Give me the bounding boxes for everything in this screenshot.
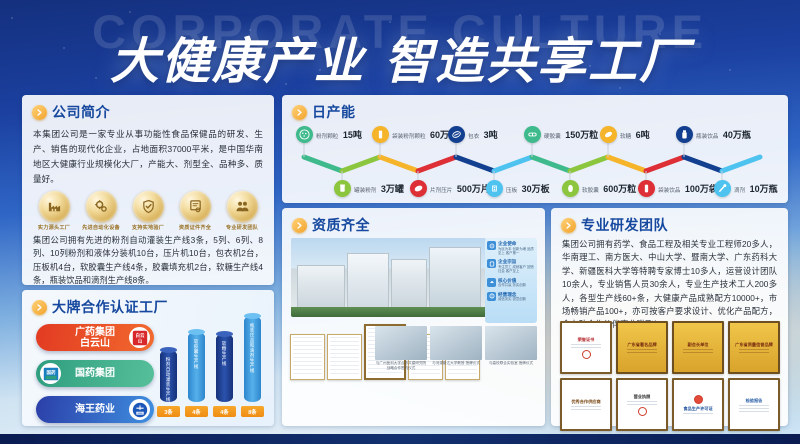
tablet-icon bbox=[410, 180, 427, 197]
culture-sub: 专注员工 成就客户 回馈社会 客户至上 bbox=[498, 265, 535, 274]
certificate-label: 广东省质量信誉品牌 bbox=[735, 342, 773, 347]
badge-label: 支持实地验厂 bbox=[126, 224, 170, 231]
list-item[interactable]: 与广州医科大学合作共建研究院 战略合作签约仪式 bbox=[375, 326, 427, 370]
certificate-item[interactable]: 营业执照 bbox=[616, 378, 668, 431]
brand-line-1: 海王药业 bbox=[75, 404, 115, 415]
strength-badge-list: 实力源头工厂 先进自动化设备 支持实地验厂 资质证件齐全 bbox=[22, 187, 274, 231]
team-photo-caption: 与高校联合实验室 授牌仪式 bbox=[485, 361, 537, 366]
production-line-bar-chart: 粉剂自动灌装生产线 3条 软胶囊生产线 4条 软糖生产线 4条 瓶装饮品和滴剂生… bbox=[156, 320, 266, 418]
chevron-right-circle-icon bbox=[292, 105, 307, 120]
certificate-grid: 荣誉证书 广东省著名品牌 副会长单位 广东省质量信誉品牌 优秀合作供应商 营业执… bbox=[560, 321, 780, 431]
bottle-icon bbox=[676, 126, 693, 143]
bar-label: 软胶囊生产线 bbox=[188, 339, 205, 369]
capacity-node-软糖: 软糖 6吨 bbox=[600, 125, 650, 143]
capacity-node-name: 硬胶囊 bbox=[544, 134, 561, 140]
list-item: 核心价值 合作共赢 务实创新 bbox=[487, 278, 535, 288]
brand-pill-neptunus[interactable]: 海王药业 bbox=[36, 396, 154, 423]
certificate-item[interactable]: 优秀合作供应商 bbox=[560, 378, 612, 431]
capacity-node-value: 150万粒 bbox=[565, 130, 598, 140]
capacity-node-name: 罐装粉剂 bbox=[354, 188, 376, 194]
certificate-item[interactable]: 检验报告 bbox=[728, 378, 780, 431]
rd-team-title: 专业研发团队 bbox=[581, 215, 668, 235]
bar-label: 粉剂自动灌装生产线 bbox=[160, 357, 177, 402]
capacity-node-value: 15吨 bbox=[343, 130, 362, 140]
badge-label: 先进自动化设备 bbox=[79, 224, 123, 231]
poster-canvas: CORPORATE CULTURE 大健康产业 智造共享工厂 公司简介 本集团公… bbox=[0, 0, 800, 444]
culture-sub: 诚信务实 锐意创新 bbox=[498, 297, 526, 301]
list-item[interactable]: 与河源斯达大学教授 授牌仪式 bbox=[430, 326, 482, 370]
brand-seal-icon: 白云山 bbox=[129, 327, 150, 348]
capacity-node-name: 包衣 bbox=[468, 134, 479, 140]
capacity-node-name: 粉剂颗粒 bbox=[316, 134, 338, 140]
capacity-node-value: 6吨 bbox=[636, 130, 650, 140]
list-item: 企业宗旨 专注员工 成就客户 回馈社会 客户至上 bbox=[487, 259, 535, 273]
sachet-icon bbox=[372, 126, 389, 143]
certificate-label: 广东省著名品牌 bbox=[627, 342, 656, 347]
mission-icon bbox=[487, 241, 496, 250]
team-photo-row: 与广州医科大学合作共建研究院 战略合作签约仪式 与河源斯达大学教授 授牌仪式 与… bbox=[375, 326, 537, 370]
list-item[interactable]: 与高校联合实验室 授牌仪式 bbox=[485, 326, 537, 370]
equipment-paragraph: 集团公司拥有先进的粉剂自动灌装生产线3条，5列、6列、8列、10列粉剂和液体分装… bbox=[22, 231, 274, 288]
brand-cooperation-header: 大牌合作认证工厂 bbox=[22, 290, 274, 317]
canister-icon bbox=[334, 180, 351, 197]
bar-item: 软胶囊生产线 4条 bbox=[188, 332, 205, 402]
capacity-node-瓶装饮品: 瓶装饮品 40万瓶 bbox=[676, 125, 751, 143]
chevron-right-circle-icon bbox=[32, 300, 47, 315]
capacity-node-罐装粉剂: 罐装粉剂 3万罐 bbox=[334, 179, 404, 197]
team-photo bbox=[375, 326, 427, 360]
capacity-node-value: 3万罐 bbox=[381, 184, 404, 194]
capacity-node-name: 软胶囊 bbox=[582, 188, 599, 194]
capacity-zigzag-chart: 粉剂颗粒 15吨 袋装粉剂颗粒 60万袋 包衣 3吨 bbox=[282, 123, 788, 203]
purpose-icon bbox=[487, 259, 496, 268]
badge-label: 专业研发团队 bbox=[220, 224, 264, 231]
capacity-node-粉剂颗粒: 粉剂颗粒 15吨 bbox=[296, 125, 362, 143]
brand-seal-icon: 国药 bbox=[40, 363, 61, 384]
certificate-label: 检验报告 bbox=[746, 398, 763, 403]
list-item: 资质证件齐全 bbox=[173, 191, 217, 231]
company-intro-paragraph: 本集团公司是一家专业从事功能性食品保健品的研发、生产、销售的现代化企业，占地面积… bbox=[22, 122, 274, 187]
gears-icon bbox=[86, 191, 117, 222]
bar-item: 瓶装饮品和滴剂生产线 8条 bbox=[244, 316, 261, 402]
factory-icon bbox=[39, 191, 70, 222]
list-item: 实力源头工厂 bbox=[32, 191, 76, 231]
footer-bar bbox=[0, 434, 800, 444]
capacity-title: 日产能 bbox=[312, 102, 356, 122]
certificate-label: 食品生产许可证 bbox=[683, 406, 712, 411]
capacity-node-value: 40万瓶 bbox=[723, 130, 751, 140]
chevron-right-circle-icon bbox=[292, 218, 307, 233]
list-item: 经营理念 诚信务实 锐意创新 bbox=[487, 292, 535, 302]
powder-icon bbox=[296, 126, 313, 143]
bar-item: 软糖生产线 4条 bbox=[216, 334, 233, 402]
certificate-thumb[interactable] bbox=[290, 334, 325, 380]
certificate-label: 营业执照 bbox=[634, 394, 651, 399]
certificate-item[interactable]: 副会长单位 bbox=[672, 321, 724, 374]
bar-value-label: 4条 bbox=[185, 406, 208, 417]
capacity-node-压板: 压板 30万板 bbox=[486, 179, 550, 197]
blister-icon bbox=[486, 180, 503, 197]
list-item: 企业使命 为民为本 创新为魂 品质至上 客户第一 bbox=[487, 241, 535, 255]
team-photo bbox=[485, 326, 537, 360]
brand-line-1: 国药集团 bbox=[75, 368, 115, 379]
rd-team-header: 专业研发团队 bbox=[551, 208, 788, 235]
brand-line-1: 广药集团 bbox=[75, 327, 115, 338]
capacity-node-value: 30万板 bbox=[522, 184, 550, 194]
qualification-panel: 资质齐全 集团公司旗下有广州工厂——广东长程医药科技有限公司、河源工厂—本元大健… bbox=[282, 208, 545, 426]
capacity-node-name: 滴剂 bbox=[734, 188, 745, 194]
capacity-node-袋装饮品: 袋装饮品 100万袋 bbox=[638, 179, 718, 197]
certificate-label: 副会长单位 bbox=[688, 342, 709, 347]
team-photo-caption: 与河源斯达大学教授 授牌仪式 bbox=[430, 361, 482, 366]
team-icon bbox=[227, 191, 258, 222]
certificate-thumb[interactable] bbox=[327, 334, 362, 380]
capacity-node-value: 100万袋 bbox=[685, 184, 718, 194]
capacity-node-name: 袋装粉剂颗粒 bbox=[392, 134, 426, 140]
chevron-right-circle-icon bbox=[561, 218, 576, 233]
rd-team-paragraph: 集团公司拥有药学、食品工程及相关专业工程师20多人，华南理工、南方医大、中山大学… bbox=[551, 235, 788, 332]
capacity-node-软胶囊: 软胶囊 600万粒 bbox=[562, 179, 636, 197]
company-intro-header: 公司简介 bbox=[22, 95, 274, 122]
capacity-node-value: 10万瓶 bbox=[750, 184, 778, 194]
chevron-right-circle-icon bbox=[32, 105, 47, 120]
capacity-node-name: 瓶装饮品 bbox=[696, 134, 718, 140]
brand-line-2: 白云山 bbox=[75, 338, 115, 349]
brand-pill-sinopharm[interactable]: 国药集团 国药 bbox=[36, 360, 154, 387]
capacity-node-name: 袋装饮品 bbox=[658, 188, 680, 194]
capacity-node-name: 片剂压片 bbox=[430, 188, 452, 194]
company-intro-title: 公司简介 bbox=[52, 102, 110, 122]
certificate-label: 荣誉证书 bbox=[578, 337, 595, 342]
capacity-node-包衣: 包衣 3吨 bbox=[448, 125, 498, 143]
rd-team-panel: 专业研发团队 集团公司拥有药学、食品工程及相关专业工程师20多人，华南理工、南方… bbox=[551, 208, 788, 426]
capacity-node-name: 压板 bbox=[506, 188, 517, 194]
certificate-item[interactable]: 荣誉证书 bbox=[560, 321, 612, 374]
dropper-icon bbox=[714, 180, 731, 197]
certificate-label: 优秀合作供应商 bbox=[571, 399, 600, 404]
hard-capsule-icon bbox=[524, 126, 541, 143]
list-item: 专业研发团队 bbox=[220, 191, 264, 231]
gummy-icon bbox=[600, 126, 617, 143]
team-photo bbox=[430, 326, 482, 360]
capacity-header: 日产能 bbox=[282, 95, 788, 122]
capacity-node-value: 500万片 bbox=[457, 184, 490, 194]
certificate-item[interactable]: 食品生产许可证 bbox=[672, 378, 724, 431]
qualification-title: 资质齐全 bbox=[312, 215, 370, 235]
capacity-node-片剂压片: 片剂压片 500万片 bbox=[410, 179, 490, 197]
badge-label: 资质证件齐全 bbox=[173, 224, 217, 231]
capacity-node-value: 3吨 bbox=[484, 130, 498, 140]
capacity-node-滴剂: 滴剂 10万瓶 bbox=[714, 179, 778, 197]
capacity-node-name: 软糖 bbox=[620, 134, 631, 140]
certificate-icon bbox=[180, 191, 211, 222]
certificate-item[interactable]: 广东省质量信誉品牌 bbox=[728, 321, 780, 374]
brand-cooperation-title: 大牌合作认证工厂 bbox=[52, 297, 168, 317]
soft-capsule-icon bbox=[562, 180, 579, 197]
shield-check-icon bbox=[133, 191, 164, 222]
bar-item: 粉剂自动灌装生产线 3条 bbox=[160, 350, 177, 402]
list-item: 支持实地验厂 bbox=[126, 191, 170, 231]
company-intro-panel: 公司简介 本集团公司是一家专业从事功能性食品保健品的研发、生产、销售的现代化企业… bbox=[22, 95, 274, 285]
factory-building-photo bbox=[291, 238, 486, 317]
poster-headline: 大健康产业 智造共享工厂 bbox=[0, 22, 800, 93]
coating-icon bbox=[448, 126, 465, 143]
qualification-header: 资质齐全 bbox=[282, 208, 545, 235]
bar-value-label: 8条 bbox=[241, 406, 264, 417]
pouch-drink-icon bbox=[638, 180, 655, 197]
capacity-node-value: 600万粒 bbox=[603, 184, 636, 194]
bar-label: 瓶装饮品和滴剂生产线 bbox=[244, 323, 261, 373]
bar-value-label: 4条 bbox=[213, 406, 236, 417]
culture-info-card: 企业使命 为民为本 创新为魂 品质至上 客户第一 企业宗旨 专注员工 成就客户 … bbox=[485, 238, 537, 323]
list-item: 先进自动化设备 bbox=[79, 191, 123, 231]
value-icon bbox=[487, 278, 496, 287]
culture-sub: 为民为本 创新为魂 品质至上 客户第一 bbox=[498, 247, 535, 256]
certificate-item[interactable]: 广东省著名品牌 bbox=[616, 321, 668, 374]
badge-label: 实力源头工厂 bbox=[32, 224, 76, 231]
capacity-node-硬胶囊: 硬胶囊 150万粒 bbox=[524, 125, 598, 143]
philosophy-icon bbox=[487, 292, 496, 301]
brand-pill-guangyao[interactable]: 广药集团 白云山 白云山 bbox=[36, 324, 154, 351]
bar-label: 软糖生产线 bbox=[216, 341, 233, 366]
brand-pill-list: 广药集团 白云山 白云山 国药集团 国药 海王药业 bbox=[36, 324, 154, 432]
team-photo-caption: 与广州医科大学合作共建研究院 战略合作签约仪式 bbox=[375, 361, 427, 370]
daily-capacity-panel: 日产能 bbox=[282, 95, 788, 203]
bar-value-label: 3条 bbox=[157, 406, 180, 417]
culture-sub: 合作共赢 务实创新 bbox=[498, 283, 526, 287]
brand-cooperation-panel: 大牌合作认证工厂 广药集团 白云山 白云山 国药集团 国药 海王药业 bbox=[22, 290, 274, 426]
brand-seal-icon bbox=[129, 399, 150, 420]
capacity-node-袋装粉剂颗粒: 袋装粉剂颗粒 60万袋 bbox=[372, 125, 458, 143]
